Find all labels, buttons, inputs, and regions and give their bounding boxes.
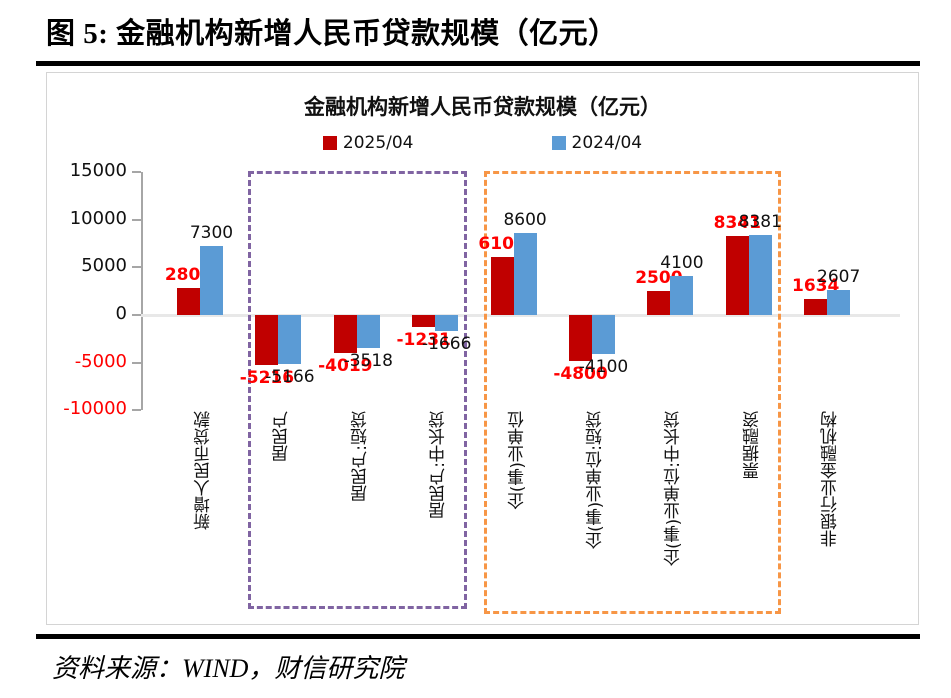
bar-value-label: 2607 <box>809 267 869 287</box>
y-axis-tick-label: -5000 <box>41 351 127 372</box>
title-divider <box>36 61 920 66</box>
x-axis-category-label: 企(事)业单位:中长贷 <box>661 411 686 566</box>
y-axis-tick <box>132 362 141 364</box>
bar[interactable] <box>177 288 200 315</box>
bar[interactable] <box>491 257 514 315</box>
bar[interactable] <box>200 246 223 315</box>
bar-value-label: 4100 <box>652 253 712 273</box>
bar-value-label: -4100 <box>574 357 634 377</box>
y-axis-tick <box>132 171 141 173</box>
household-group-box <box>248 171 467 609</box>
x-axis-category-label: 企(事)业单位 <box>505 411 530 509</box>
x-axis-category-label: 居民户 <box>269 411 294 462</box>
footer-divider <box>36 634 920 639</box>
bar[interactable] <box>726 236 749 315</box>
bar[interactable] <box>569 315 592 361</box>
y-axis-tick-label: 0 <box>41 303 127 324</box>
bar-value-label: -1666 <box>417 334 477 354</box>
bar[interactable] <box>255 315 278 365</box>
x-axis-category-label: 企(事)业单位:短贷 <box>583 411 608 549</box>
bar[interactable] <box>670 276 693 315</box>
chart-frame: 金融机构新增人民币贷款规模（亿元） 2025/04 2024/04 150001… <box>46 72 919 625</box>
bar-value-label: -3518 <box>338 351 398 371</box>
bar[interactable] <box>334 315 357 353</box>
bar[interactable] <box>357 315 380 348</box>
bar-value-label: 7300 <box>182 223 242 243</box>
y-axis-tick-label: 15000 <box>41 160 127 181</box>
y-axis-line <box>141 172 143 410</box>
bar[interactable] <box>804 299 827 315</box>
y-axis-tick <box>132 314 141 316</box>
x-axis-category-label: 居民户:中长贷 <box>426 411 451 519</box>
bar[interactable] <box>749 235 772 315</box>
plot-area: 150001000050000-5000-1000028007300新增人民币贷… <box>47 73 920 626</box>
bar[interactable] <box>827 290 850 315</box>
bar-value-label: 8381 <box>730 212 790 232</box>
y-axis-tick-label: 10000 <box>41 208 127 229</box>
y-axis-tick-label: -10000 <box>41 398 127 419</box>
x-axis-category-label: 居民户:短贷 <box>348 411 373 502</box>
figure-heading: 图 5: 金融机构新增人民币贷款规模（亿元） <box>46 10 618 52</box>
bar-value-label: -5166 <box>260 367 320 387</box>
bar[interactable] <box>514 233 537 315</box>
bar[interactable] <box>647 291 670 315</box>
bar[interactable] <box>435 315 458 331</box>
y-axis-tick <box>132 409 141 411</box>
x-axis-category-label: 非银行业金融机构 <box>818 411 843 547</box>
x-axis-category-label: 新增人民币贷款 <box>191 411 216 530</box>
x-axis-category-label: 票据融资 <box>740 411 765 479</box>
bar-value-label: 8600 <box>495 210 555 230</box>
y-axis-tick <box>132 266 141 268</box>
y-axis-tick-label: 5000 <box>41 255 127 276</box>
bar[interactable] <box>278 315 301 364</box>
y-axis-tick <box>132 219 141 221</box>
bar[interactable] <box>592 315 615 354</box>
bar[interactable] <box>412 315 435 327</box>
source-note: 资料来源：WIND，财信研究院 <box>52 648 404 685</box>
